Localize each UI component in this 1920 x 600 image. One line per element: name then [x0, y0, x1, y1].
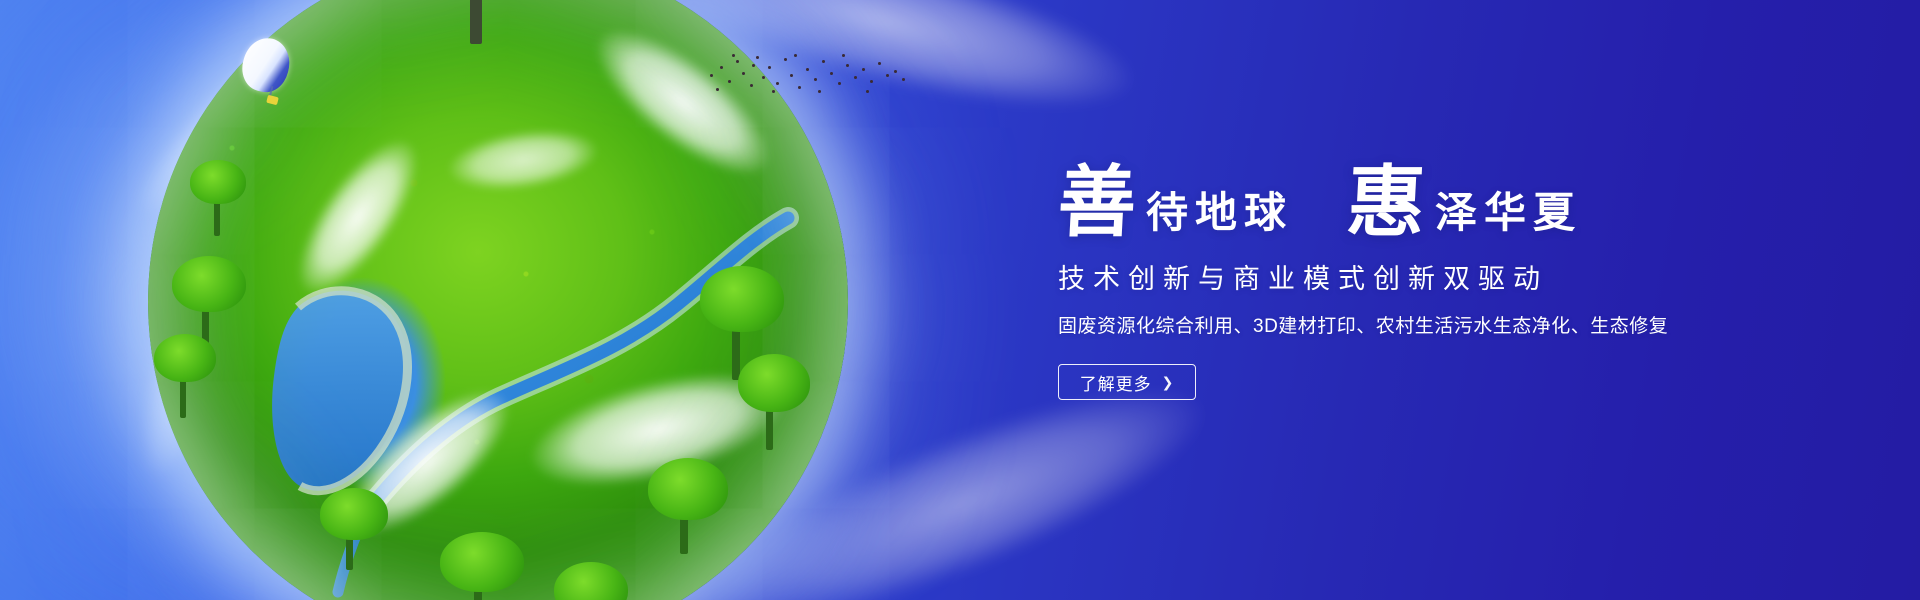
- globe-cloud: [445, 122, 601, 198]
- cloud-band: [213, 412, 666, 600]
- cloud-band: [113, 101, 328, 489]
- hero-banner: 善 待地球 惠 泽华夏 技术创新与商业模式创新双驱动 固废资源化综合利用、3D建…: [0, 0, 1920, 600]
- globe-cloud: [520, 352, 795, 507]
- learn-more-label: 了解更多: [1080, 370, 1152, 395]
- cloud-band: [116, 0, 415, 240]
- banner-content: 善 待地球 惠 泽华夏 技术创新与商业模式创新双驱动 固废资源化综合利用、3D建…: [1058, 150, 1818, 400]
- globe-cloud: [278, 123, 439, 311]
- chevron-right-icon: ❯: [1162, 375, 1175, 389]
- headline-char-2: 惠: [1345, 164, 1427, 242]
- banner-subtitle: 技术创新与商业模式创新双驱动: [1058, 262, 1818, 296]
- learn-more-button[interactable]: 了解更多 ❯: [1058, 364, 1196, 400]
- headline-rest-2: 泽华夏: [1435, 192, 1582, 234]
- bird-flock-icon: [706, 48, 906, 104]
- banner-description: 固废资源化综合利用、3D建材打印、农村生活污水生态净化、生态修复: [1058, 314, 1818, 340]
- balloon-basket: [266, 95, 279, 105]
- globe-cloud: [326, 367, 531, 557]
- page-title: 善 待地球 惠 泽华夏: [1058, 150, 1818, 242]
- cloud-band: [253, 238, 448, 600]
- hot-air-balloon: [243, 38, 289, 108]
- balloon-envelope: [237, 33, 295, 97]
- headline-char-1: 善: [1056, 164, 1138, 242]
- headline-rest-1: 待地球: [1146, 192, 1293, 234]
